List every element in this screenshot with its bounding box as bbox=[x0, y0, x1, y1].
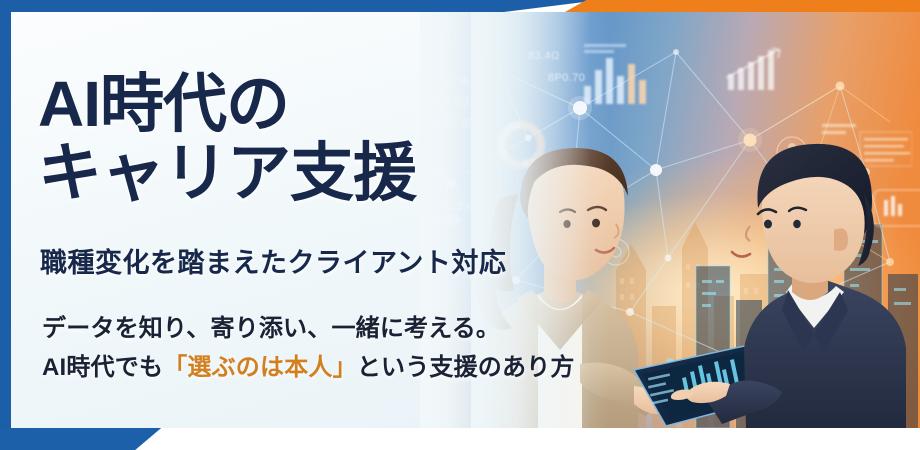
top-accent-orange bbox=[565, 0, 920, 12]
lead-line-2-highlight: 「選ぶのは本人」 bbox=[163, 354, 357, 381]
line-chart-widget-icon bbox=[722, 44, 788, 94]
hero-copy: AI時代の キャリア支援 職種変化を踏まえたクライアント対応 データを知り、寄り… bbox=[38, 12, 538, 428]
headline-line-2: キャリア支援 bbox=[38, 141, 416, 206]
top-accent-blue bbox=[0, 0, 600, 12]
lead-line-2-prefix: AI時代でも bbox=[42, 354, 163, 381]
lead-line-1: データを知り、寄り添い、一緒に考える。 bbox=[42, 308, 500, 343]
subheadline: 職種変化を踏まえたクライアント対応 bbox=[40, 241, 506, 280]
lead-line-2-suffix: という支援のあり方 bbox=[357, 354, 575, 381]
bottom-accent-bar bbox=[0, 428, 260, 450]
top-accent-bar bbox=[0, 0, 920, 12]
lead-line-2: AI時代でも「選ぶのは本人」という支援のあり方 bbox=[42, 347, 575, 382]
hero-banner: 8.7% 5.3G E2.83% 83.4Ω 8P0.70 475 x 1.1V… bbox=[0, 0, 920, 450]
left-accent-rail bbox=[0, 0, 11, 450]
person-client bbox=[671, 144, 906, 428]
headline-line-1: AI時代の bbox=[38, 72, 289, 137]
